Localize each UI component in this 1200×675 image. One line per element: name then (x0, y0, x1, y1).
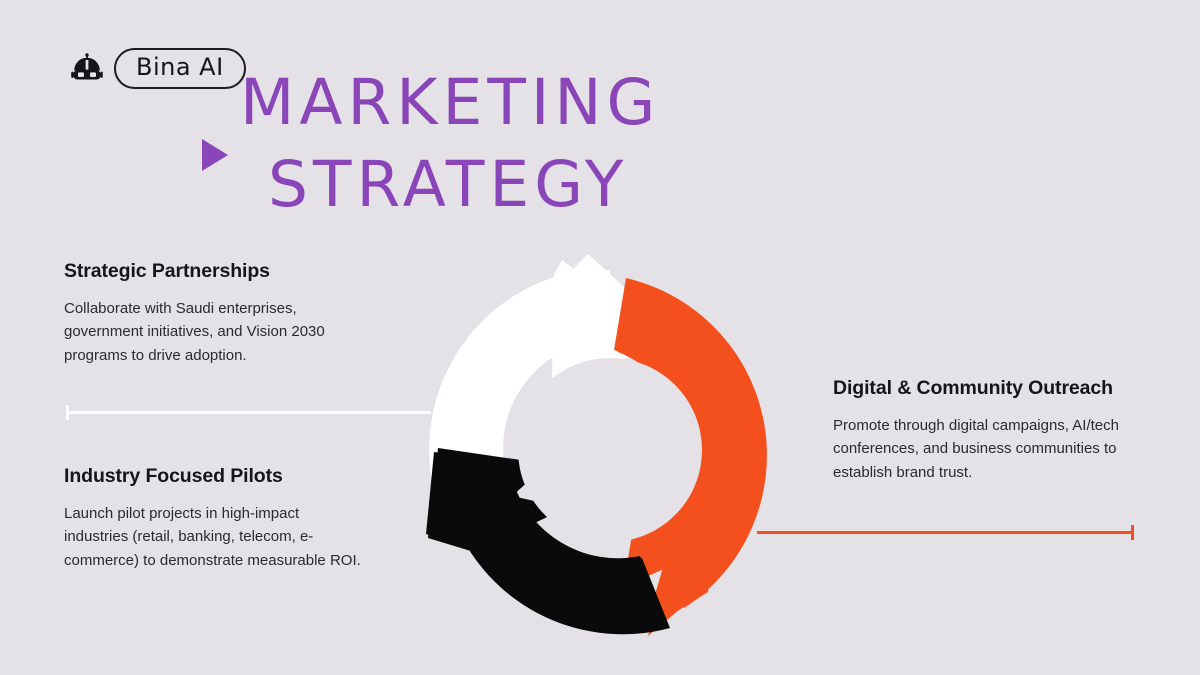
block-heading: Digital & Community Outreach (833, 377, 1178, 400)
block-body: Promote through digital campaigns, AI/te… (833, 414, 1178, 484)
title-line-1: MARKETING (240, 72, 940, 134)
play-triangle-icon (202, 139, 228, 171)
content-block-pilots: Industry Focused Pilots Launch pilot pro… (64, 465, 364, 572)
three-arrow-cycle-diagram (412, 252, 808, 648)
right-connector-end-cap (1131, 525, 1134, 540)
left-connector-end-cap (66, 405, 69, 420)
page-title: MARKETING STRATEGY (240, 72, 940, 217)
content-block-outreach: Digital & Community Outreach Promote thr… (833, 377, 1178, 484)
brand-name-pill: Bina AI (114, 48, 246, 89)
content-block-partnerships: Strategic Partnerships Collaborate with … (64, 260, 364, 367)
robot-head-icon (70, 52, 104, 86)
left-connector-line (66, 411, 431, 414)
block-body: Launch pilot projects in high-impact ind… (64, 502, 364, 572)
title-line-2: STRATEGY (268, 154, 940, 216)
block-body: Collaborate with Saudi enterprises, gove… (64, 297, 364, 367)
brand-lockup: Bina AI (70, 48, 246, 89)
block-heading: Strategic Partnerships (64, 260, 364, 283)
diagram-center-hole (518, 358, 702, 542)
right-connector-line (757, 531, 1134, 534)
block-heading: Industry Focused Pilots (64, 465, 364, 488)
